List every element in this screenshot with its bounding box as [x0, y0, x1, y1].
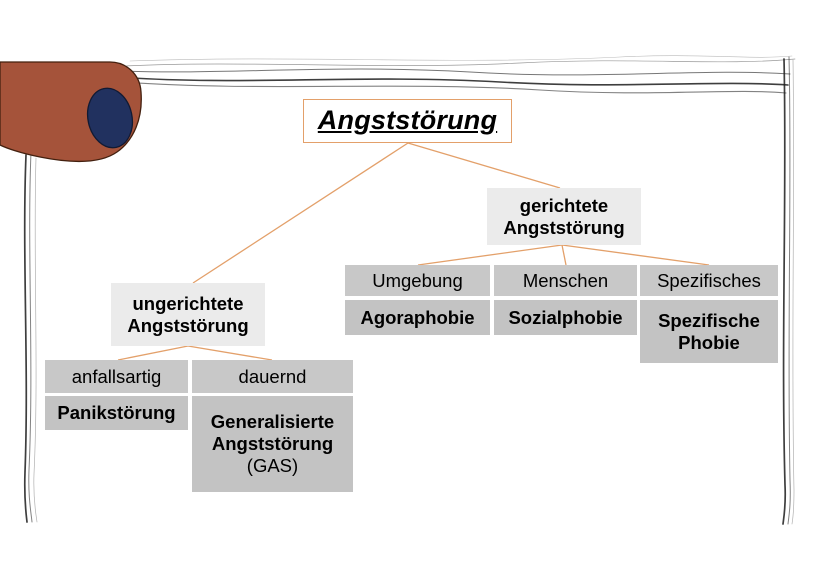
node-diagnosis-panikstoerung: Panikstörung [45, 396, 188, 430]
connector-ungerichtete-to-anfallsartig [118, 346, 188, 360]
node-gerichtete-line2: Angststörung [503, 217, 624, 239]
connector-root-to-ungerichtete [193, 143, 408, 283]
node-generalisierte-line1: Generalisierte [211, 411, 334, 433]
connector-gerichtete-to-menschen [562, 245, 566, 265]
node-descriptor-menschen: Menschen [494, 265, 637, 296]
node-spezifisches-label: Spezifisches [657, 270, 761, 292]
node-menschen-label: Menschen [523, 270, 608, 292]
node-ungerichtete-label: ungerichtete Angststörung [127, 293, 248, 337]
node-generalisierte-line3: (GAS) [211, 455, 334, 477]
node-umgebung-label: Umgebung [372, 270, 463, 292]
node-ungerichtete-angststoerung: ungerichtete Angststörung [111, 283, 265, 346]
node-agoraphobie-label: Agoraphobie [360, 307, 474, 329]
node-root-label: Angststörung [318, 105, 497, 137]
connector-ungerichtete-to-dauernd [188, 346, 272, 360]
node-gerichtete-angststoerung: gerichtete Angststörung [487, 188, 641, 245]
node-generalisierte-line2: Angststörung [211, 433, 334, 455]
node-dauernd-label: dauernd [239, 366, 307, 388]
slide-canvas: Angststörung ungerichtete Angststörung g… [0, 0, 828, 586]
node-diagnosis-spezifische-phobie: Spezifische Phobie [640, 300, 778, 363]
navy-oval-accent [82, 84, 138, 152]
node-gerichtete-line1: gerichtete [503, 195, 624, 217]
connector-gerichtete-to-spezifisches [562, 245, 709, 265]
node-panikstoerung-label: Panikstörung [57, 402, 175, 424]
node-ungerichtete-line2: Angststörung [127, 315, 248, 337]
node-descriptor-umgebung: Umgebung [345, 265, 490, 296]
node-diagnosis-agoraphobie: Agoraphobie [345, 300, 490, 335]
node-descriptor-anfallsartig: anfallsartig [45, 360, 188, 393]
node-descriptor-spezifisches: Spezifisches [640, 265, 778, 296]
node-spezifische-phobie-line2: Phobie [658, 332, 760, 354]
connector-root-to-gerichtete [408, 143, 560, 188]
connector-gerichtete-to-umgebung [418, 245, 562, 265]
node-sozialphobie-label: Sozialphobie [508, 307, 622, 329]
node-descriptor-dauernd: dauernd [192, 360, 353, 393]
brown-rounded-corner-blob [0, 62, 141, 161]
node-spezifische-phobie-label: Spezifische Phobie [658, 310, 760, 354]
node-anfallsartig-label: anfallsartig [72, 366, 161, 388]
node-ungerichtete-line1: ungerichtete [127, 293, 248, 315]
node-gerichtete-label: gerichtete Angststörung [503, 195, 624, 239]
node-spezifische-phobie-line1: Spezifische [658, 310, 760, 332]
node-root-angststoerung: Angststörung [303, 99, 512, 143]
node-diagnosis-generalisierte-angststoerung: Generalisierte Angststörung (GAS) [192, 396, 353, 492]
node-diagnosis-sozialphobie: Sozialphobie [494, 300, 637, 335]
node-generalisierte-label: Generalisierte Angststörung (GAS) [211, 411, 334, 476]
